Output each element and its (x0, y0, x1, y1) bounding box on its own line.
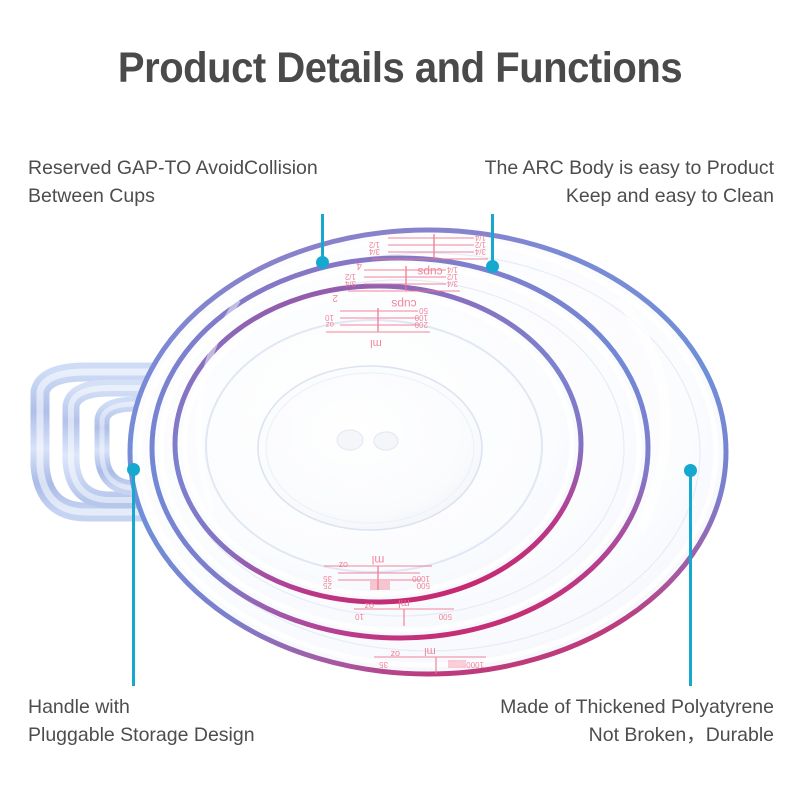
svg-text:3/4: 3/4 (368, 247, 380, 256)
callout-arc-body: The ARC Body is easy to Product Keep and… (485, 155, 774, 210)
product-infographic: Product Details and Functions (0, 0, 800, 800)
svg-text:1/2: 1/2 (344, 272, 356, 281)
handle-outer (40, 372, 186, 512)
svg-text:10: 10 (325, 313, 334, 322)
svg-text:3/4: 3/4 (344, 279, 356, 288)
svg-text:200: 200 (414, 320, 428, 329)
product-illustration: cups 3/4 1/2 1/4 3/4 1/2 4 cups (0, 0, 800, 800)
svg-text:4: 4 (356, 260, 362, 271)
svg-text:35: 35 (323, 574, 332, 583)
graduation-markings: cups 3/4 1/2 1/4 3/4 1/2 4 cups (323, 233, 488, 674)
handle-inner (102, 404, 216, 488)
svg-text:10: 10 (355, 612, 364, 621)
svg-text:1/2: 1/2 (474, 240, 486, 249)
base-dimple-right (374, 432, 398, 450)
handle-inner-highlight (102, 404, 216, 488)
leader-line-arc (491, 214, 494, 266)
scale-middle-top: cups 3/4 1/2 1/4 3/4 1/2 2 (332, 265, 460, 311)
svg-text:oz: oz (390, 649, 400, 659)
callout-arc-body-line-2: Keep and easy to Clean (485, 183, 774, 211)
svg-text:100: 100 (414, 313, 428, 322)
svg-text:1000: 1000 (466, 660, 484, 669)
svg-text:ml: ml (398, 597, 410, 609)
leader-line-gap (321, 214, 324, 262)
callout-reserved-gap-line-2: Between Cups (28, 183, 318, 211)
scale-outer-bottom: ml 1000 35 oz (374, 645, 486, 674)
svg-text:cups: cups (391, 297, 416, 311)
svg-text:3/4: 3/4 (446, 279, 458, 288)
callout-handle-storage-line-2: Pluggable Storage Design (28, 722, 255, 750)
callout-reserved-gap-line-1: Reserved GAP-TO AvoidCollision (28, 155, 318, 183)
scale-outer-top: cups 3/4 1/2 1/4 3/4 1/2 4 (356, 233, 488, 279)
svg-text:ml: ml (372, 553, 385, 567)
svg-text:1/2: 1/2 (446, 272, 458, 281)
svg-text:ml: ml (424, 645, 436, 657)
handle-middle-highlight (71, 388, 200, 500)
leader-dot-material (684, 464, 697, 477)
cup-middle (152, 258, 648, 638)
svg-text:500: 500 (416, 581, 430, 590)
svg-text:1/2: 1/2 (368, 240, 380, 249)
svg-text:500: 500 (438, 612, 452, 621)
cup-base (258, 366, 482, 530)
callout-material-line-1: Made of Thickened Polyatyrene (500, 694, 774, 722)
leader-dot-gap (316, 256, 329, 269)
svg-text:oz: oz (338, 560, 348, 570)
glass-sheen (199, 300, 666, 530)
svg-text:1/4: 1/4 (474, 233, 486, 242)
scale-middle-bottom: ml 500 10 oz (354, 597, 454, 626)
svg-text:50: 50 (419, 306, 428, 315)
scale-inner-top: ml 200 100 50 oz 10 (325, 306, 430, 349)
svg-text:1/4: 1/4 (446, 265, 458, 274)
cup-outer (130, 230, 726, 674)
page-title: Product Details and Functions (28, 44, 772, 93)
leader-dot-arc (486, 260, 499, 273)
callout-material-line-2: Not Broken，Durable (500, 722, 774, 750)
handles-group (40, 372, 216, 512)
cup-inner (175, 286, 581, 602)
base-dimple-left (337, 430, 363, 450)
svg-text:cups: cups (417, 265, 442, 279)
svg-text:25: 25 (323, 581, 332, 590)
svg-text:2: 2 (332, 292, 338, 303)
svg-text:3/4: 3/4 (474, 247, 486, 256)
callout-reserved-gap: Reserved GAP-TO AvoidCollision Between C… (28, 155, 318, 210)
scale-inner-bottom: ml 1000 500 35 25 oz (323, 553, 432, 590)
handle-middle (71, 388, 200, 500)
leader-line-handle (132, 469, 135, 686)
callout-handle-storage-line-1: Handle with (28, 694, 255, 722)
svg-text:1000: 1000 (412, 574, 430, 583)
svg-text:oz: oz (326, 320, 334, 329)
svg-text:ml: ml (370, 337, 382, 349)
leader-dot-handle (127, 463, 140, 476)
handle-outer-highlight (40, 372, 186, 512)
svg-text:oz: oz (364, 601, 374, 611)
callout-arc-body-line-1: The ARC Body is easy to Product (485, 155, 774, 183)
leader-line-material (689, 470, 692, 686)
svg-text:35: 35 (379, 660, 388, 669)
callout-material: Made of Thickened Polyatyrene Not Broken… (500, 694, 774, 749)
callout-handle-storage: Handle with Pluggable Storage Design (28, 694, 255, 749)
